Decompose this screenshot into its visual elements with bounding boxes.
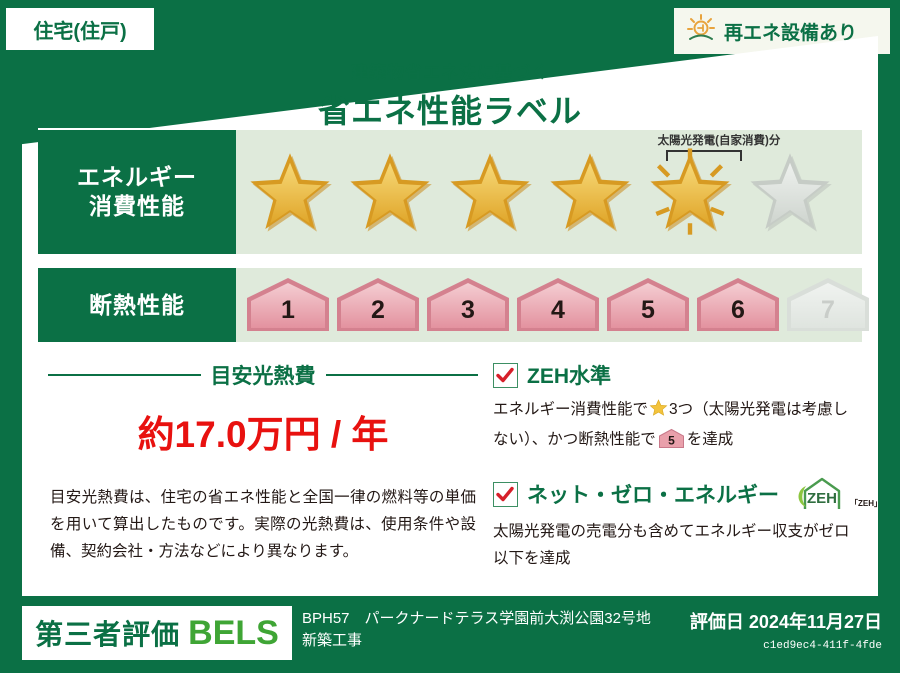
bels-logo-en: BELS	[188, 614, 279, 653]
star-icon	[649, 404, 668, 421]
insulation-level-number: 5	[605, 276, 691, 334]
insulation-level-number: 4	[515, 276, 601, 334]
content-card: エネルギー 消費性能 太陽光発電(自家消費)分 断熱性能 1234567 目安光…	[38, 128, 862, 580]
heading-subtitle: 建築物省エネ法に基づく	[0, 58, 900, 83]
divider-left	[48, 374, 201, 376]
insulation-level-1: 1	[245, 276, 331, 334]
insulation-level-3: 3	[425, 276, 511, 334]
page-title: 省エネ性能ラベル	[0, 86, 900, 132]
property-line2: 新築工事	[302, 630, 651, 652]
insulation-performance-label: 断熱性能	[38, 268, 236, 342]
property-info: BPH57 パークナードテラス学園前大渕公園32号地 新築工事	[302, 608, 651, 652]
insulation-level-4: 4	[515, 276, 601, 334]
energy-performance-label: エネルギー 消費性能	[38, 130, 236, 254]
property-line1: BPH57 パークナードテラス学園前大渕公園32号地	[302, 608, 651, 630]
insulation-level-7: 7	[785, 276, 871, 334]
insulation-level-number: 3	[425, 276, 511, 334]
utility-cost-value: 約17.0万円 / 年	[48, 404, 478, 458]
insulation-level-number: 1	[245, 276, 331, 334]
utility-cost-heading: 目安光熱費	[48, 360, 478, 390]
zeh-logo-icon: ZEH 「ZEH」	[792, 476, 882, 512]
star-icon-filled	[344, 148, 436, 236]
net-zero-energy-title: ネット・ゼロ・エネルギー	[527, 479, 779, 509]
star-icon-filled	[544, 148, 636, 236]
divider-right	[326, 374, 479, 376]
utility-cost-title: 目安光熱費	[211, 360, 316, 390]
insulation-performance-scale: 1234567	[236, 268, 862, 342]
energy-label-line1: エネルギー	[77, 163, 197, 192]
svg-text:5: 5	[668, 433, 675, 447]
zeh-standard-text-pre: エネルギー消費性能で	[493, 401, 648, 418]
zeh-standard-block: ZEH水準 エネルギー消費性能で3つ（太陽光発電は考慮しない）、かつ断熱性能で5…	[493, 360, 858, 458]
checkmark-icon	[493, 482, 518, 507]
star-icon-solar	[644, 148, 736, 236]
insulation-level-scale: 1234567	[245, 276, 871, 334]
utility-cost-note: 目安光熱費は、住宅の省エネ性能と全国一律の燃料等の単価を用いて算出したものです。…	[48, 484, 478, 565]
insulation-level-number: 7	[785, 276, 871, 334]
solar-note-text: 太陽光発電(自家消費)分	[629, 132, 809, 148]
star-icon-filled	[444, 148, 536, 236]
net-zero-energy-block: ネット・ゼロ・エネルギー ZEH 「ZEH」 太陽光発電の売電分も含めてエネルギ…	[493, 476, 858, 572]
label-canvas: 住宅(住戸) 再エネ設備あり 建築物省エネ法に基づく 省エネ性能ラベル	[0, 0, 900, 673]
evaluation-id: c1ed9ec4-411f-4fde	[690, 640, 882, 652]
energy-label-line2: 消費性能	[89, 192, 185, 221]
zeh-standard-title: ZEH水準	[527, 360, 611, 390]
checkmark-icon	[493, 363, 518, 388]
insulation-label-text: 断熱性能	[89, 291, 185, 320]
evaluation-info: 評価日 2024年11月27日 c1ed9ec4-411f-4fde	[690, 608, 882, 652]
insulation-level-number: 2	[335, 276, 421, 334]
zeh-logo-caption: 「ZEH」	[850, 498, 882, 512]
insulation-level-number: 6	[695, 276, 781, 334]
star-rating	[244, 148, 836, 236]
insulation-badge-icon: 5	[658, 436, 685, 453]
insulation-performance-row: 断熱性能 1234567	[38, 268, 862, 342]
bels-logo-jp: 第三者評価	[35, 613, 180, 653]
energy-performance-row: エネルギー 消費性能 太陽光発電(自家消費)分	[38, 130, 862, 254]
bels-logo: 第三者評価 BELS	[22, 606, 292, 660]
renewable-energy-badge-label: 再エネ設備あり	[724, 18, 857, 45]
star-icon-empty	[744, 148, 836, 236]
evaluation-date: 評価日 2024年11月27日	[690, 608, 882, 634]
label-heading: 建築物省エネ法に基づく 省エネ性能ラベル	[0, 58, 900, 132]
zeh-standard-body: エネルギー消費性能で3つ（太陽光発電は考慮しない）、かつ断熱性能で5を達成	[493, 397, 858, 458]
net-zero-energy-body: 太陽光発電の売電分も含めてエネルギー収支がゼロ以下を達成	[493, 519, 858, 572]
solar-sun-icon	[684, 12, 718, 51]
category-tag: 住宅(住戸)	[6, 8, 154, 50]
net-zero-energy-heading: ネット・ゼロ・エネルギー ZEH 「ZEH」	[493, 476, 858, 512]
energy-performance-scale: 太陽光発電(自家消費)分	[236, 130, 862, 254]
zeh-standard-text-post: を達成	[687, 431, 734, 448]
svg-text:ZEH: ZEH	[807, 490, 837, 507]
footer-bar: 第三者評価 BELS BPH57 パークナードテラス学園前大渕公園32号地 新築…	[0, 596, 900, 673]
insulation-level-5: 5	[605, 276, 691, 334]
zeh-criteria-section: ZEH水準 エネルギー消費性能で3つ（太陽光発電は考慮しない）、かつ断熱性能で5…	[493, 360, 858, 591]
category-tag-label: 住宅(住戸)	[33, 15, 126, 44]
zeh-standard-heading: ZEH水準	[493, 360, 858, 390]
utility-cost-section: 目安光熱費 約17.0万円 / 年 目安光熱費は、住宅の省エネ性能と全国一律の燃…	[48, 360, 478, 565]
insulation-level-2: 2	[335, 276, 421, 334]
star-icon-filled	[244, 148, 336, 236]
insulation-level-6: 6	[695, 276, 781, 334]
